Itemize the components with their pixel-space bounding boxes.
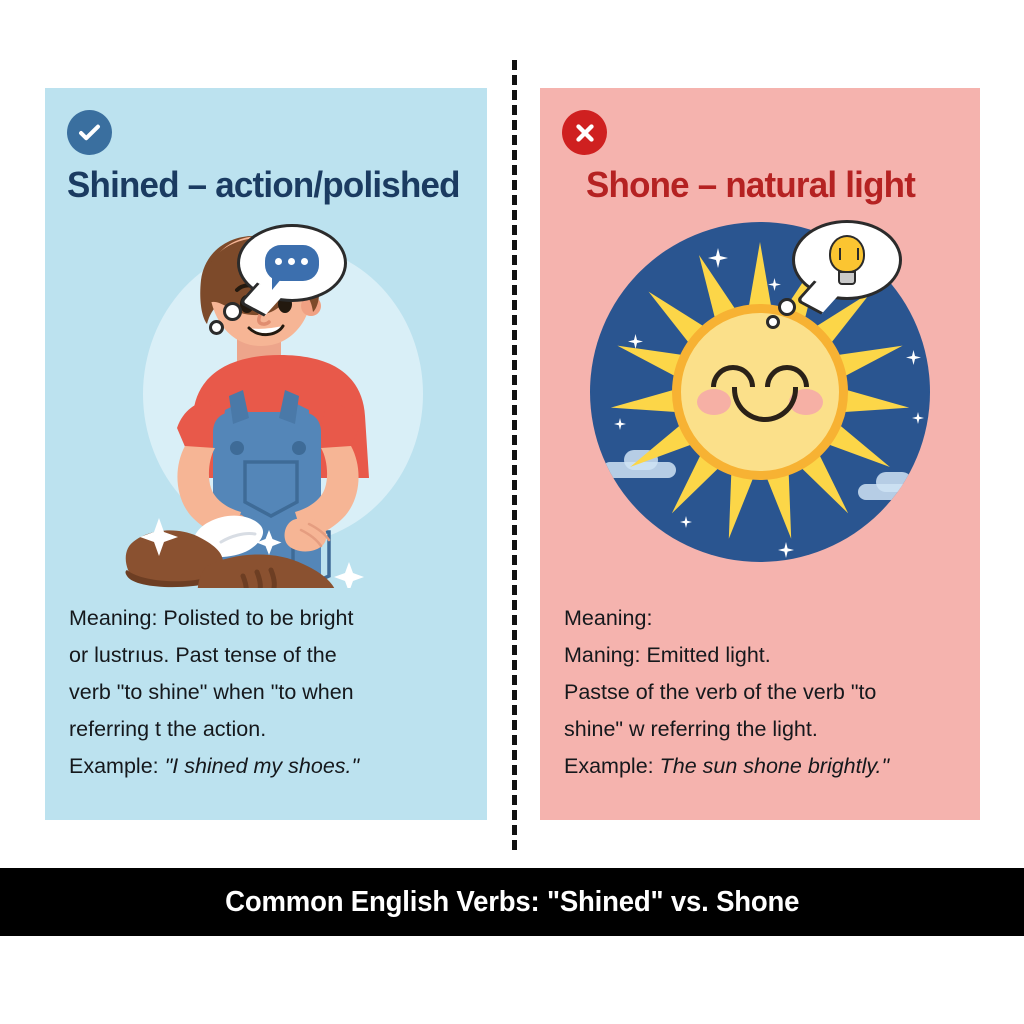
example-label: Example: xyxy=(564,754,660,778)
example-line: Example: The sun shone brightly." xyxy=(564,748,962,785)
example-sentence: The sun shone brightly." xyxy=(660,754,890,778)
star-icon xyxy=(778,542,794,558)
card-title-shined: Shined – action/polished xyxy=(67,166,469,204)
example-line: Example: "I shined my shoes." xyxy=(69,748,469,785)
sun-face-icon xyxy=(672,304,848,480)
body-text-shone: Meaning: Maning: Emitted light. Pastse o… xyxy=(564,600,962,785)
thought-dot-large xyxy=(223,302,242,321)
meaning-line-3: Pastse of the verb of the verb "to xyxy=(564,674,962,711)
chat-bubble-icon xyxy=(265,245,319,281)
meaning-line-4: shine" w referring the light. xyxy=(564,711,962,748)
thought-bubble-shone xyxy=(792,220,902,300)
poster-stage: Shined – action/polished xyxy=(0,0,1024,1024)
meaning-line-4: referring t the action. xyxy=(69,711,469,748)
card-title-shone: Shone – natural light xyxy=(586,166,962,204)
thought-dot-small xyxy=(766,315,780,329)
star-icon xyxy=(912,412,924,424)
body-text-shined: Meaning: Polisted to be bright or lustrı… xyxy=(69,600,469,785)
card-shone[interactable]: Shone – natural light xyxy=(540,88,980,820)
footer-banner: Common English Verbs: "Shined" vs. Shone xyxy=(0,868,1024,936)
meaning-line-1: Meaning: xyxy=(564,600,962,637)
check-circle-icon xyxy=(67,110,112,155)
illustration-shone xyxy=(540,216,980,588)
meaning-line-2: or lustrıus. Past tense of the xyxy=(69,637,469,674)
thought-dot-small xyxy=(209,320,224,335)
meaning-line-2: Maning: Emitted light. xyxy=(564,637,962,674)
meaning-line-3: verb "to shine" when "to when xyxy=(69,674,469,711)
lightbulb-icon xyxy=(829,235,865,285)
illustration-shined xyxy=(45,216,487,588)
sun-eye-right xyxy=(765,365,809,387)
example-label: Example: xyxy=(69,754,165,778)
thought-dot-large xyxy=(778,298,796,316)
thought-bubble-shined xyxy=(237,224,347,302)
chat-dots xyxy=(275,258,308,265)
card-shined[interactable]: Shined – action/polished xyxy=(45,88,487,820)
sun-mouth xyxy=(732,387,798,422)
meaning-line-1: Meaning: Polisted to be bright xyxy=(69,600,469,637)
sun-eye-left xyxy=(711,365,755,387)
x-circle-icon xyxy=(562,110,607,155)
sun-cheek-left xyxy=(697,389,731,415)
example-sentence: "I shined my shoes." xyxy=(165,754,360,778)
footer-banner-title: Common English Verbs: "Shined" vs. Shone xyxy=(225,886,799,919)
dashed-divider xyxy=(512,60,517,850)
